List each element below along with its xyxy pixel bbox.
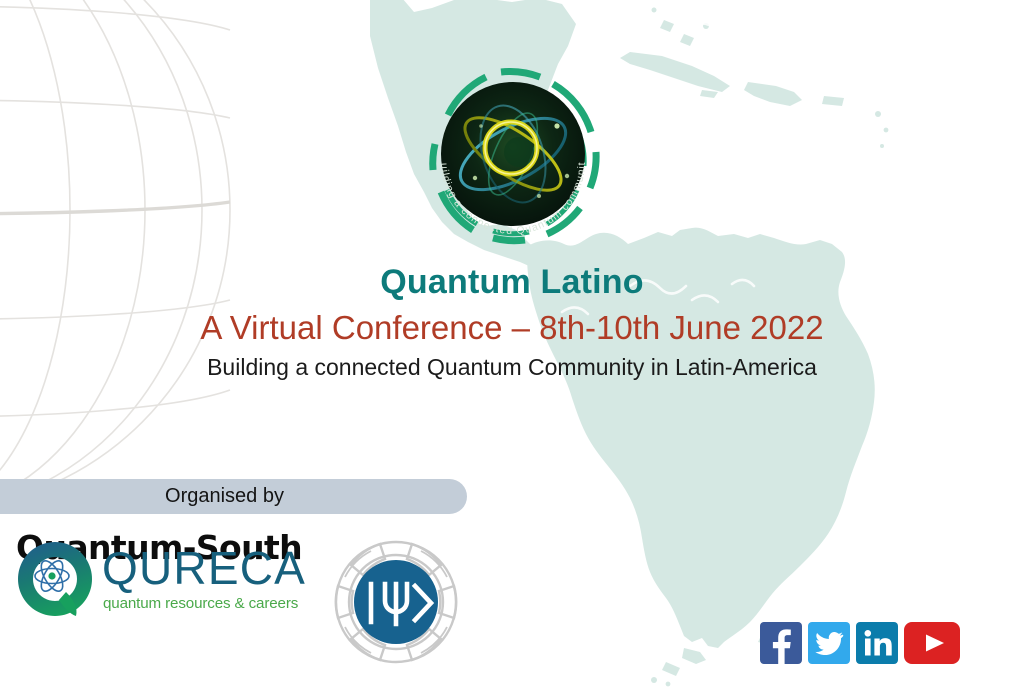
qureca-tagline: quantum resources & careers: [102, 594, 312, 611]
youtube-icon[interactable]: [904, 622, 960, 664]
social-links-bar: [760, 622, 960, 664]
organised-by-label: Organised by: [165, 485, 302, 508]
qureca-tagline-text: quantum resources & careers: [103, 595, 299, 611]
sponsor-qureca[interactable]: QURECA quantum resources & careers: [14, 538, 312, 620]
headline-block: Quantum Latino A Virtual Conference – 8t…: [0, 262, 1024, 383]
quantum-latino-logo: Building a connected Quantum community: [407, 48, 619, 260]
qureca-q-atom-icon: [14, 538, 96, 620]
event-subtitle: A Virtual Conference – 8th-10th June 202…: [0, 307, 1024, 349]
twitter-icon[interactable]: [808, 622, 850, 664]
page-title: Quantum Latino: [0, 262, 1024, 302]
linkedin-icon[interactable]: [856, 622, 898, 664]
organised-by-banner: Organised by: [0, 479, 467, 514]
quantum-south-ket-psi-icon[interactable]: [333, 539, 459, 665]
facebook-icon[interactable]: [760, 622, 802, 664]
qureca-wordmark-text: QURECA: [102, 547, 306, 593]
event-tagline: Building a connected Quantum Community i…: [0, 353, 1024, 383]
qureca-wordmark: QURECA: [102, 547, 312, 593]
